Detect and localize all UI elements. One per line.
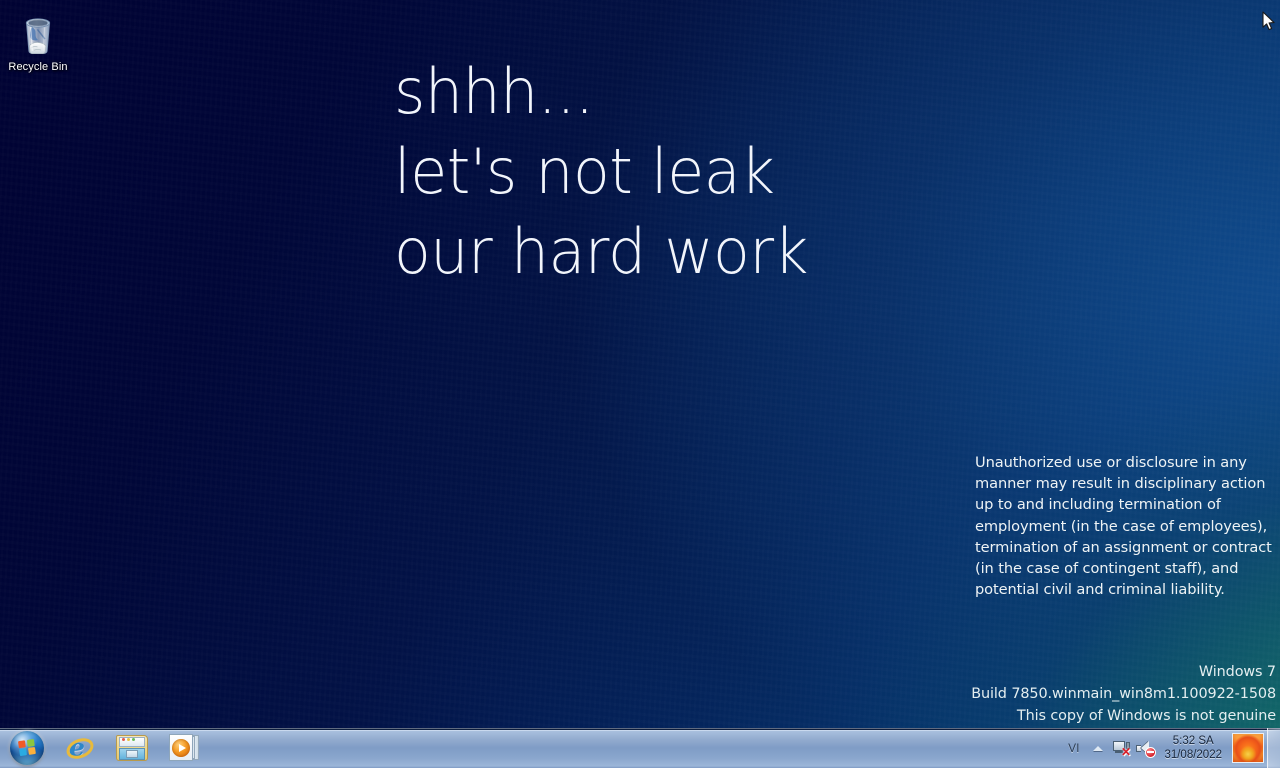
headline-line-1: shhh... [394, 52, 1015, 132]
windows-orb-icon [10, 731, 44, 765]
show-hidden-icons-button[interactable] [1087, 733, 1109, 763]
taskbar-clock[interactable]: 5:32 SA 31/08/2022 [1157, 728, 1229, 768]
tray-icon-network[interactable]: ✕ [1109, 733, 1133, 763]
media-player-icon [169, 734, 199, 762]
desktop-background[interactable]: Recycle Bin shhh... let's not leak our h… [0, 0, 1280, 768]
headline-line-3: our hard work [394, 212, 1015, 292]
system-tray[interactable]: VI ✕ 5:32 SA [1060, 728, 1280, 768]
taskbar-item-windows-explorer[interactable] [106, 729, 158, 767]
start-button[interactable] [0, 729, 54, 767]
mute-badge [1145, 747, 1156, 758]
windows-build-watermark: Windows 7 Build 7850.winmain_win8m1.1009… [716, 661, 1276, 727]
mouse-cursor [1262, 11, 1276, 32]
taskbar-item-windows-media-player[interactable] [158, 729, 210, 767]
watermark-product: Windows 7 [716, 661, 1276, 683]
show-desktop-button[interactable] [1267, 728, 1280, 768]
headline-line-2: let's not leak [394, 132, 1015, 212]
internet-explorer-icon: e [65, 733, 95, 763]
language-indicator[interactable]: VI [1060, 741, 1087, 755]
tray-icon-volume[interactable] [1133, 733, 1157, 763]
desktop-icon-recycle-bin[interactable]: Recycle Bin [4, 4, 72, 73]
desktop-icon-label: Recycle Bin [8, 61, 67, 73]
taskbar-item-internet-explorer[interactable]: e [54, 729, 106, 767]
network-icon: ✕ [1113, 741, 1130, 756]
wallpaper-disclaimer-text: Unauthorized use or disclosure in any ma… [975, 452, 1277, 600]
network-error-badge: ✕ [1121, 748, 1131, 758]
clock-date: 31/08/2022 [1164, 748, 1222, 762]
wallpaper-headline: shhh... let's not leak our hard work [394, 52, 1034, 292]
taskbar[interactable]: e VI [0, 728, 1280, 768]
clock-time: 5:32 SA [1173, 734, 1214, 748]
watermark-build: Build 7850.winmain_win8m1.100922-1508 [716, 683, 1276, 705]
folder-icon [116, 735, 148, 762]
chevron-up-icon [1093, 746, 1103, 751]
speaker-muted-icon [1136, 741, 1154, 756]
watermark-genuine-notice: This copy of Windows is not genuine [716, 705, 1276, 727]
recycle-bin-icon [14, 10, 62, 58]
picture-thumbnail[interactable] [1232, 733, 1264, 763]
